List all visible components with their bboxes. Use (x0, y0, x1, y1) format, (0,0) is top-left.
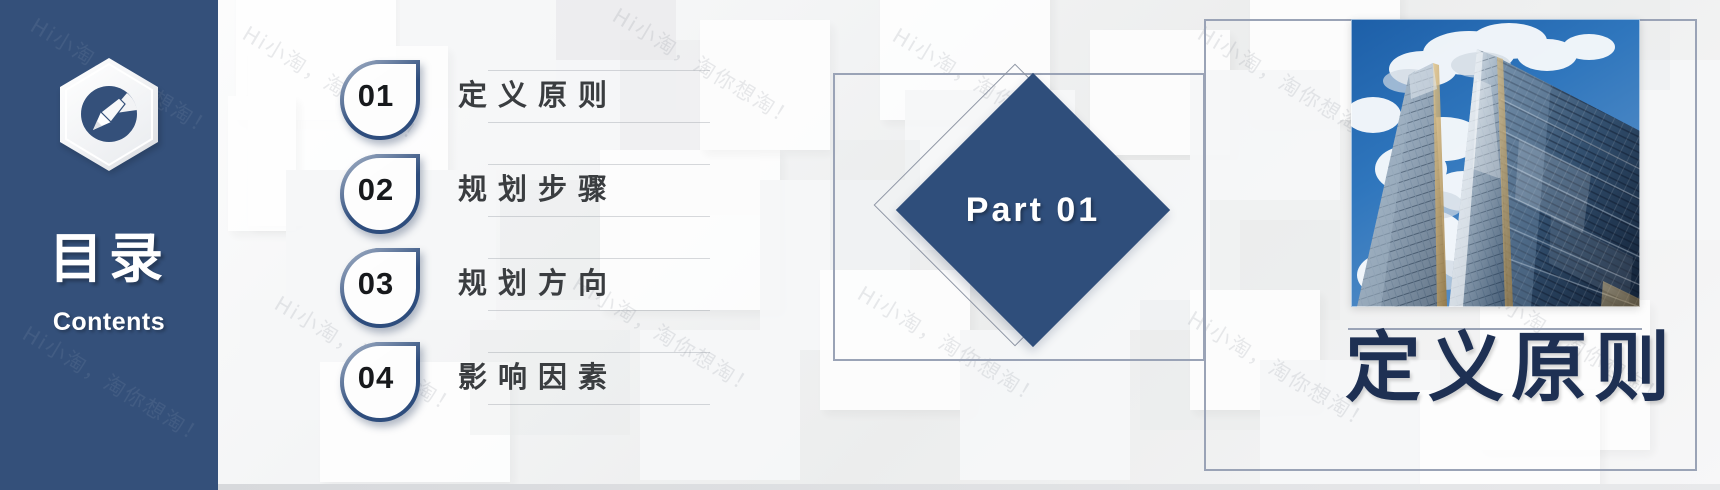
toc-item-04[interactable]: 04 影响因素 (340, 342, 710, 414)
toc-item-01[interactable]: 01 定义原则 (340, 60, 710, 132)
toc-number: 03 (340, 248, 412, 320)
page-title: 定义原则 (1345, 330, 1677, 406)
skyscrapers-photo-art (1351, 19, 1640, 307)
pen-circle-icon (81, 86, 137, 142)
toc-number: 04 (340, 342, 412, 414)
toc-number: 02 (340, 154, 412, 226)
hexagon-pen-logo (49, 54, 169, 176)
part-label: Part 01 (936, 113, 1130, 307)
building-photo (1351, 19, 1640, 307)
toc-label: 规划方向 (458, 260, 618, 306)
toc-item-02[interactable]: 02 规划步骤 (340, 154, 710, 226)
logo (49, 54, 169, 176)
toc-label: 规划步骤 (458, 166, 618, 212)
toc-item-03[interactable]: 03 规划方向 (340, 248, 710, 320)
toc-label: 定义原则 (458, 72, 618, 118)
toc-number: 01 (340, 60, 412, 132)
sidebar: Hi小淘，淘你想淘！ Hi小淘，淘你想淘！ (0, 0, 218, 490)
slide-canvas: Hi小淘，淘你想淘！ Hi小淘，淘你想淘！ Hi小淘，淘你想淘！ Hi小淘，淘你… (0, 0, 1720, 490)
toc-label: 影响因素 (458, 354, 618, 400)
sidebar-title-en: Contents (0, 308, 218, 337)
sidebar-title-cn: 目录 (0, 232, 218, 286)
bottom-strip (218, 484, 1720, 490)
